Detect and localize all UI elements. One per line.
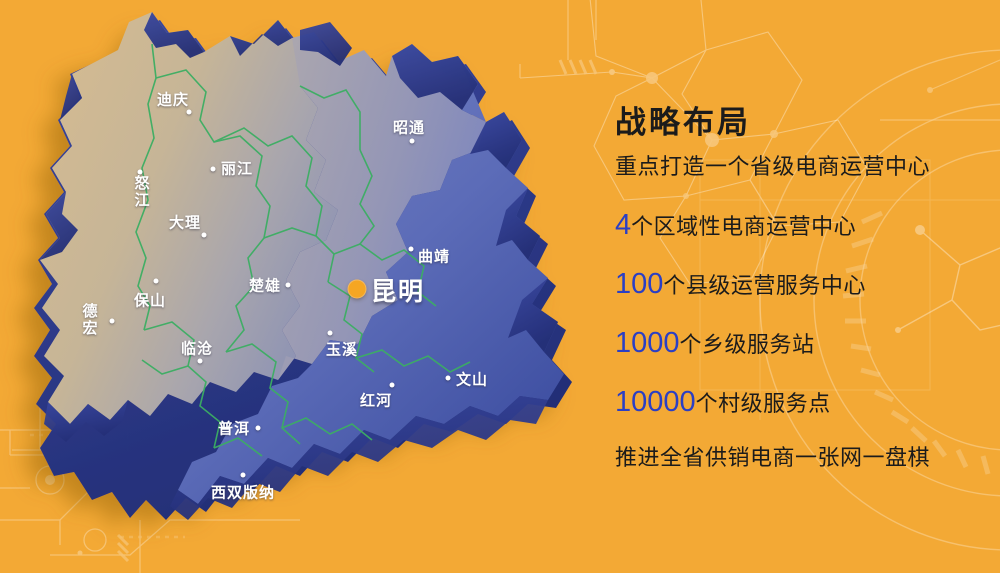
prefecture-label-dali: 大理: [169, 212, 201, 233]
strategy-item-text: 个村级服务点: [696, 391, 831, 416]
prefecture-label-diqing: 迪庆: [157, 89, 189, 110]
yunnan-map: 迪庆 丽江 怒江 大理 楚雄 保山 德宏 临沧 普洱 西双版纳 玉溪 红河: [0, 0, 620, 573]
strategy-item-text: 个乡级服务站: [680, 332, 815, 357]
city-dot: [211, 167, 216, 172]
prefecture-label-qujing: 曲靖: [418, 246, 450, 267]
city-dot: [198, 359, 203, 364]
strategy-item-village: 10000个村级服务点: [615, 384, 1000, 420]
strategy-item-regional: 4个区域性电商运营中心: [615, 207, 1000, 243]
capital-marker-kunming: [349, 281, 366, 298]
prefecture-label-lincang: 临沧: [181, 338, 213, 359]
city-dot: [241, 473, 246, 478]
city-dot: [410, 139, 415, 144]
city-dot: [446, 376, 451, 381]
prefecture-label-dehong: 德宏: [79, 303, 100, 337]
prefecture-label-xishuangbanna: 西双版纳: [211, 482, 275, 503]
strategy-item-text: 个区域性电商运营中心: [631, 214, 856, 239]
prefecture-label-wenshan: 文山: [456, 369, 488, 390]
city-dot: [256, 426, 261, 431]
strategy-item-text: 个县级运营服务中心: [663, 273, 866, 298]
prefecture-label-yuxi: 玉溪: [326, 339, 358, 360]
prefecture-label-puer: 普洱: [218, 418, 250, 439]
city-dot: [390, 383, 395, 388]
city-dot: [138, 170, 143, 175]
city-dot: [187, 110, 192, 115]
strategy-item-number: 10000: [615, 386, 696, 418]
strategy-item-county: 100个县级运营服务中心: [615, 266, 1000, 302]
prefecture-label-baoshan: 保山: [134, 290, 166, 311]
city-dot: [409, 247, 414, 252]
strategy-item-number: 100: [615, 268, 663, 300]
strategy-item-number: 1000: [615, 327, 680, 359]
page-title: 战略布局: [615, 104, 1000, 141]
strategy-item-township: 1000个乡级服务站: [615, 325, 1000, 361]
slide-canvas: 迪庆 丽江 怒江 大理 楚雄 保山 德宏 临沧 普洱 西双版纳 玉溪 红河: [0, 0, 1000, 573]
panel-footer: 推进全省供销电商一张网一盘棋: [615, 444, 1000, 472]
prefecture-label-lijiang: 丽江: [221, 158, 253, 179]
prefecture-label-chuxiong: 楚雄: [249, 275, 281, 296]
strategy-panel: 战略布局 重点打造一个省级电商运营中心 4个区域性电商运营中心 100个县级运营…: [615, 104, 1000, 471]
city-dot: [154, 279, 159, 284]
prefecture-label-zhaotong: 昭通: [393, 117, 425, 138]
city-dot: [202, 233, 207, 238]
city-dot: [328, 331, 333, 336]
city-dot: [286, 283, 291, 288]
panel-subtitle: 重点打造一个省级电商运营中心: [615, 153, 1000, 181]
prefecture-label-nujiang: 怒江: [131, 175, 152, 209]
strategy-item-number: 4: [615, 209, 631, 241]
capital-label-kunming: 昆明: [371, 272, 425, 308]
city-dot: [110, 319, 115, 324]
prefecture-label-honghe: 红河: [360, 390, 392, 411]
